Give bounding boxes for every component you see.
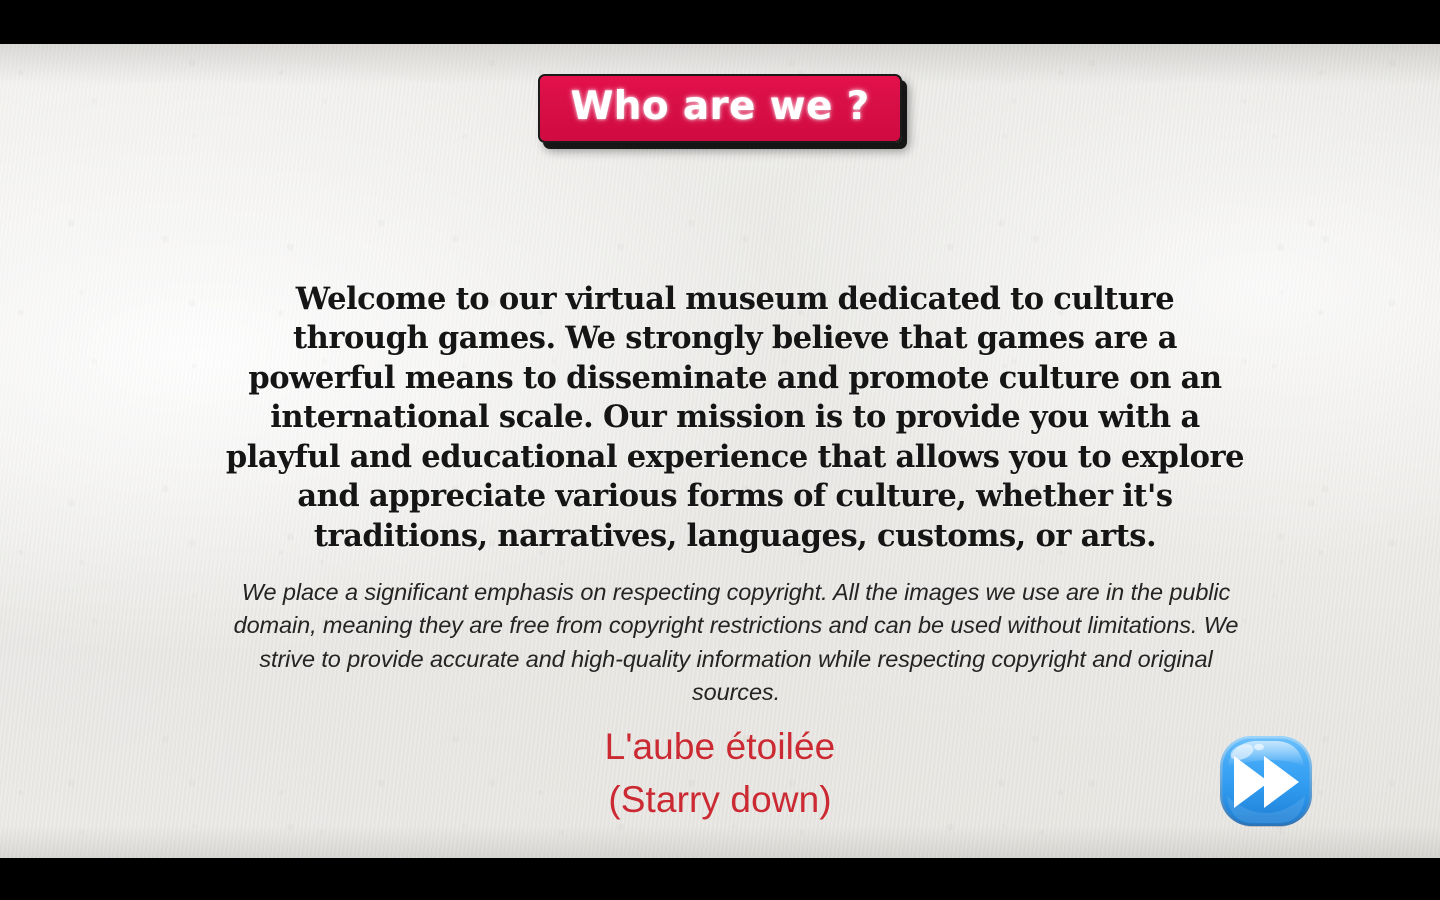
next-button[interactable] [1214, 730, 1318, 834]
intro-paragraph: Welcome to our virtual museum dedicated … [224, 280, 1246, 557]
fast-forward-icon [1214, 730, 1318, 834]
page-title-banner: Who are we ? [538, 74, 901, 143]
game-screen: Who are we ? Welcome to our virtual muse… [0, 0, 1440, 900]
copyright-disclaimer-paragraph: We place a significant emphasis on respe… [214, 576, 1258, 710]
page-title: Who are we ? [570, 85, 869, 129]
letterbox-bar-top [0, 0, 1440, 44]
page-title-container: Who are we ? [0, 74, 1440, 143]
letterbox-bar-bottom [0, 858, 1440, 900]
paper-stage: Who are we ? Welcome to our virtual muse… [0, 44, 1440, 858]
